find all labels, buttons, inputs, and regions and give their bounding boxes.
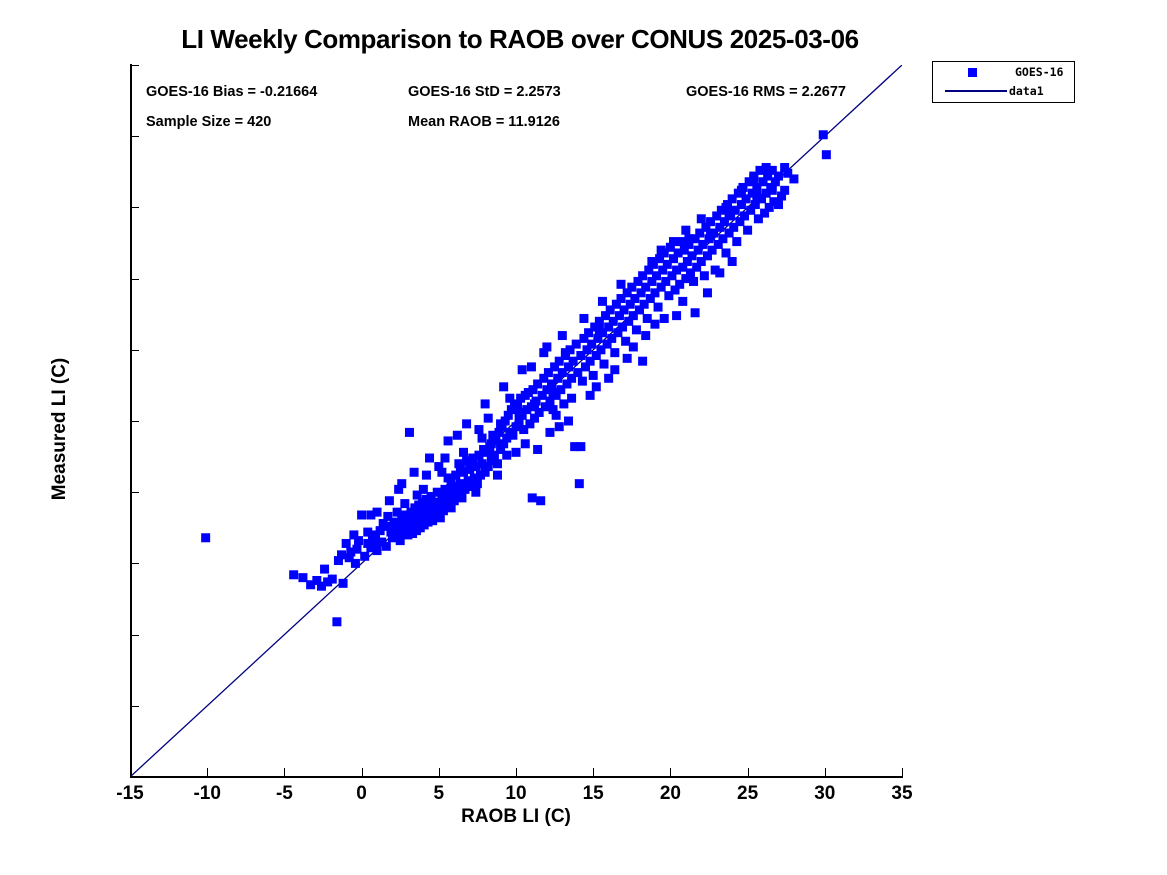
legend-label-goes16: GOES-16	[1015, 65, 1063, 79]
y-tick-mark	[130, 421, 139, 422]
data-point	[558, 331, 567, 340]
y-tick-mark	[130, 65, 139, 66]
data-point	[462, 419, 471, 428]
data-point	[515, 408, 524, 417]
data-point	[752, 192, 761, 201]
x-tick-label: 5	[434, 783, 445, 805]
data-point	[780, 163, 789, 172]
data-point	[684, 234, 693, 243]
x-tick-label: -15	[116, 783, 143, 805]
y-axis-label: Measured LI (C)	[49, 129, 71, 729]
scatter-series-goes-16	[201, 130, 831, 626]
data-point	[604, 374, 613, 383]
data-point	[728, 257, 737, 266]
data-point	[332, 617, 341, 626]
data-point	[459, 448, 468, 457]
data-point	[508, 431, 517, 440]
data-point	[660, 314, 669, 323]
data-point	[360, 552, 369, 561]
data-point	[474, 425, 483, 434]
data-point	[774, 200, 783, 209]
x-tick-mark	[362, 768, 363, 777]
data-point	[357, 510, 366, 519]
legend: GOES-16 data1	[932, 61, 1075, 103]
data-point	[533, 445, 542, 454]
data-point	[396, 536, 405, 545]
y-tick-mark	[130, 350, 139, 351]
data-point	[437, 468, 446, 477]
y-tick-mark	[130, 136, 139, 137]
data-point	[638, 357, 647, 366]
data-point	[201, 533, 210, 542]
stat-sample-size: Sample Size = 420	[146, 114, 271, 130]
data-point	[789, 174, 798, 183]
data-point	[681, 226, 690, 235]
chart-canvas: LI Weekly Comparison to RAOB over CONUS …	[0, 0, 1167, 875]
data-point	[589, 371, 598, 380]
plot-area: -15-10-505101520253035 -15-10-5051015202…	[130, 65, 902, 777]
data-point	[505, 394, 514, 403]
data-point	[610, 348, 619, 357]
x-tick-mark	[825, 768, 826, 777]
data-point	[518, 365, 527, 374]
data-point	[440, 454, 449, 463]
data-point	[444, 436, 453, 445]
x-tick-label: 15	[583, 783, 604, 805]
data-point	[542, 342, 551, 351]
data-point	[320, 565, 329, 574]
x-axis-label: RAOB LI (C)	[130, 806, 902, 828]
data-point	[422, 471, 431, 480]
data-point	[576, 442, 585, 451]
data-point	[478, 434, 487, 443]
data-point	[552, 411, 561, 420]
data-point	[564, 417, 573, 426]
data-point	[493, 459, 502, 468]
data-point	[499, 382, 508, 391]
scatter-data-layer	[130, 65, 902, 777]
x-tick-mark	[207, 768, 208, 777]
data-point	[762, 163, 771, 172]
data-point	[425, 454, 434, 463]
data-point	[572, 340, 581, 349]
legend-square-marker-icon	[933, 68, 1011, 77]
legend-line-marker-icon	[933, 90, 1011, 91]
data-point	[453, 431, 462, 440]
data-point	[737, 186, 746, 195]
x-tick-mark	[902, 768, 903, 777]
data-point	[471, 488, 480, 497]
data-point	[393, 508, 402, 517]
data-point	[382, 542, 391, 551]
data-point	[561, 348, 570, 357]
data-point	[592, 382, 601, 391]
x-tick-mark	[439, 768, 440, 777]
data-point	[703, 288, 712, 297]
data-point	[629, 342, 638, 351]
data-point	[416, 510, 425, 519]
data-point	[579, 314, 588, 323]
data-point	[567, 394, 576, 403]
data-point	[654, 303, 663, 312]
data-point	[528, 493, 537, 502]
data-point	[405, 428, 414, 437]
x-tick-label: 10	[505, 783, 526, 805]
data-point	[328, 575, 337, 584]
x-tick-label: 0	[356, 783, 367, 805]
data-point	[400, 499, 409, 508]
y-tick-mark	[130, 492, 139, 493]
data-point	[610, 365, 619, 374]
data-point	[354, 536, 363, 545]
y-tick-mark	[130, 279, 139, 280]
data-point	[496, 419, 505, 428]
data-point	[487, 439, 496, 448]
data-point	[819, 130, 828, 139]
data-point	[732, 237, 741, 246]
data-point	[598, 297, 607, 306]
x-tick-mark	[748, 768, 749, 777]
data-point	[457, 493, 466, 502]
data-point	[768, 186, 777, 195]
stat-std: GOES-16 StD = 2.2573	[408, 84, 561, 100]
data-point	[697, 214, 706, 223]
legend-label-data1: data1	[1009, 84, 1044, 98]
data-point	[484, 414, 493, 423]
data-point	[586, 391, 595, 400]
data-point	[468, 456, 477, 465]
data-point	[385, 496, 394, 505]
data-point	[397, 479, 406, 488]
data-point	[774, 172, 783, 181]
stat-rms: GOES-16 RMS = 2.2677	[686, 84, 846, 100]
y-tick-mark	[130, 635, 139, 636]
data-point	[481, 399, 490, 408]
data-point	[575, 479, 584, 488]
y-tick-mark	[130, 563, 139, 564]
x-tick-label: 35	[891, 783, 912, 805]
data-point	[641, 331, 650, 340]
data-point	[512, 448, 521, 457]
y-tick-mark	[130, 777, 139, 778]
stat-mean-raob: Mean RAOB = 11.9126	[408, 114, 560, 130]
data-point	[530, 399, 539, 408]
data-point	[473, 479, 482, 488]
data-point	[363, 528, 372, 537]
data-point	[289, 570, 298, 579]
x-tick-mark	[130, 768, 131, 777]
data-point	[559, 399, 568, 408]
legend-item-data1: data1	[933, 81, 1074, 101]
data-point	[351, 559, 360, 568]
data-point	[706, 231, 715, 240]
data-point	[700, 271, 709, 280]
data-point	[342, 539, 351, 548]
data-point	[623, 354, 632, 363]
stat-bias: GOES-16 Bias = -0.21664	[146, 84, 317, 100]
legend-item-goes16: GOES-16	[933, 62, 1074, 82]
data-point	[669, 237, 678, 246]
data-point	[822, 150, 831, 159]
data-point	[379, 519, 388, 528]
x-tick-mark	[284, 768, 285, 777]
data-point	[410, 468, 419, 477]
data-point	[431, 502, 440, 511]
x-tick-mark	[670, 768, 671, 777]
data-point	[657, 246, 666, 255]
data-point	[521, 439, 530, 448]
data-point	[413, 491, 422, 500]
x-tick-label: -5	[276, 783, 293, 805]
data-point	[677, 237, 686, 246]
data-point	[672, 311, 681, 320]
data-point	[573, 368, 582, 377]
x-tick-mark	[593, 768, 594, 777]
data-point	[536, 496, 545, 505]
data-point	[502, 451, 511, 460]
data-point	[743, 226, 752, 235]
data-point	[780, 186, 789, 195]
data-point	[689, 277, 698, 286]
data-point	[373, 508, 382, 517]
y-tick-mark	[130, 706, 139, 707]
data-point	[337, 550, 346, 559]
page-title: LI Weekly Comparison to RAOB over CONUS …	[0, 24, 1040, 55]
data-point	[621, 337, 630, 346]
data-point	[549, 388, 558, 397]
x-tick-label: 25	[737, 783, 758, 805]
data-point	[691, 308, 700, 317]
data-point	[555, 422, 564, 431]
data-point	[569, 357, 578, 366]
y-tick-mark	[130, 207, 139, 208]
data-point	[678, 297, 687, 306]
data-point	[749, 174, 758, 183]
data-point	[493, 471, 502, 480]
data-point	[725, 209, 734, 218]
data-point	[715, 268, 724, 277]
data-point	[369, 542, 378, 551]
data-point	[721, 248, 730, 257]
data-point	[632, 325, 641, 334]
x-tick-label: -10	[193, 783, 220, 805]
x-tick-label: 30	[814, 783, 835, 805]
data-point	[595, 325, 604, 334]
data-point	[388, 522, 397, 531]
data-point	[578, 377, 587, 386]
data-point	[600, 360, 609, 369]
data-point	[447, 476, 456, 485]
x-tick-mark	[516, 768, 517, 777]
data-point	[450, 491, 459, 500]
data-point	[456, 465, 465, 474]
x-tick-label: 20	[660, 783, 681, 805]
data-point	[545, 428, 554, 437]
data-point	[339, 579, 348, 588]
data-point	[352, 545, 361, 554]
data-point	[527, 362, 536, 371]
data-point	[643, 314, 652, 323]
data-point	[650, 320, 659, 329]
data-point	[647, 257, 656, 266]
data-point	[298, 573, 307, 582]
data-point	[616, 280, 625, 289]
